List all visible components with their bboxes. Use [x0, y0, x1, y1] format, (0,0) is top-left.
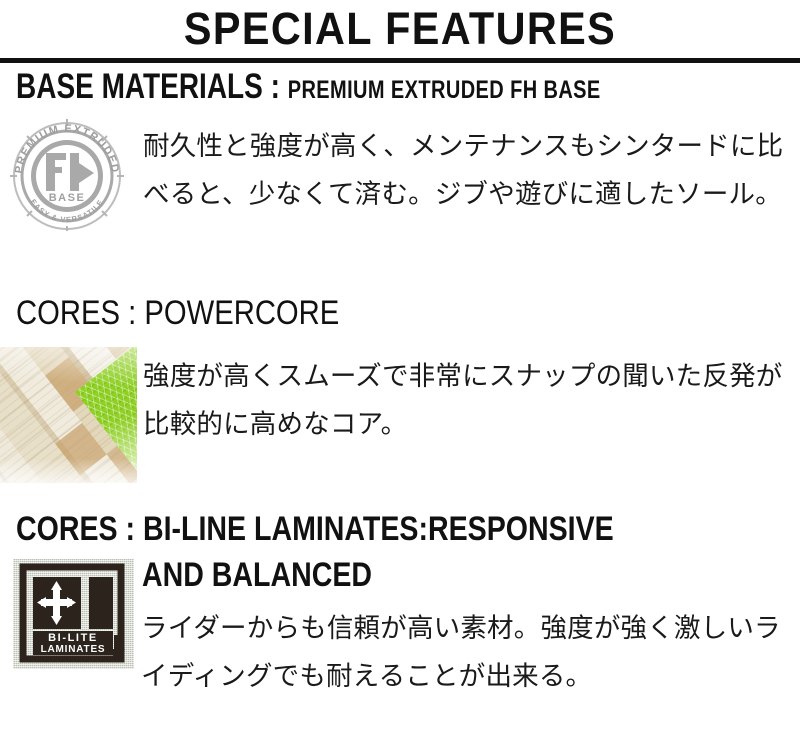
heading-bi-line-line1: CORES : BI-LINE LAMINATES:RESPONSIVE: [16, 510, 614, 548]
premium-extruded-fh-base-badge-icon: PREMIUM EXTRUDED EASY & VERSATILE BASE: [4, 117, 130, 231]
body-text-powercore: 強度が高くスムーズで非常にスナップの聞いた反発が比較的に高めなコア。: [143, 352, 788, 448]
heading-base-materials-main: BASE MATERIALS :: [16, 67, 280, 106]
heading-base-materials: BASE MATERIALS : PREMIUM EXTRUDED FH BAS…: [16, 66, 601, 111]
bi-lite-label-line2: LAMINATES: [41, 644, 106, 655]
bi-lite-laminates-logo-icon: BI-LITE LAMINATES: [13, 559, 134, 669]
powercore-wood-laminate-image: [0, 347, 137, 483]
title-divider: [0, 58, 800, 63]
bi-lite-label-line1: BI-LITE: [48, 632, 98, 644]
svg-text:BASE: BASE: [49, 192, 86, 204]
heading-cores-powercore: CORES : POWERCORE: [16, 292, 339, 334]
heading-base-materials-sub: PREMIUM EXTRUDED FH BASE: [288, 76, 601, 104]
body-text-bi-line-laminates: ライダーからも信頼が高い素材。強度が強く激しいライディングでも耐えることが出来る…: [141, 604, 791, 700]
special-features-page: SPECIAL FEATURES BASE MATERIALS : PREMIU…: [0, 0, 800, 734]
wood-vignette: [0, 347, 137, 483]
body-text-base-materials: 耐久性と強度が高く、メンテナンスもシンタードに比べると、少なくて済む。ジブや遊び…: [143, 122, 788, 218]
page-title: SPECIAL FEATURES: [32, 2, 768, 56]
